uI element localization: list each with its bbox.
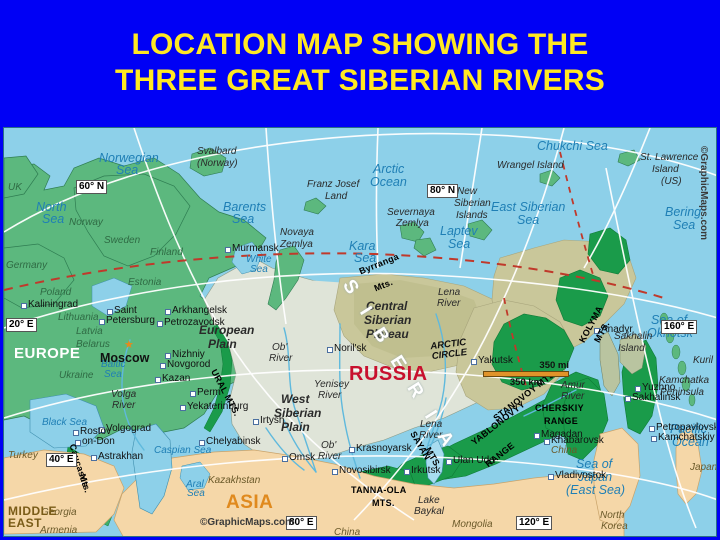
city-marker-icon [190,391,196,397]
coordinate-label-1: 80° N [427,184,458,198]
city-marker-icon [253,419,259,425]
city-marker-icon [73,430,79,436]
city-marker-icon [160,363,166,369]
city-marker-icon [635,386,641,392]
coordinate-label-6: 160° E [661,320,697,334]
city-marker-icon [625,396,631,402]
city-marker-icon [91,455,97,461]
city-marker-icon [21,303,27,309]
scale-km-label: 350 km [483,377,569,388]
city-marker-icon [282,456,288,462]
city-marker-icon [332,469,338,475]
map-canvas[interactable]: NorwegianSeaNorthSeaBarentsSeaArcticOcea… [3,127,717,537]
city-marker-icon [157,321,163,327]
city-marker-icon [404,469,410,475]
graphicmaps-watermark-1: ©GraphicMaps.com [698,146,709,240]
capital-star-icon: ★ [124,338,134,351]
scale-bar: 350 mi 350 km [483,360,569,388]
city-marker-icon [99,319,105,325]
title-line-2: THREE GREAT SIBERIAN RIVERS [115,63,605,99]
city-marker-icon [180,405,186,411]
city-marker-icon [225,247,231,253]
city-marker-icon [107,309,113,315]
city-marker-icon [349,447,355,453]
city-marker-icon [199,440,205,446]
city-marker-icon [651,436,657,442]
city-marker-icon [155,377,161,383]
graphicmaps-watermark-0: ©GraphicMaps.com [200,517,294,528]
map-geometry [4,128,717,537]
city-marker-icon [327,347,333,353]
title-line-1: LOCATION MAP SHOWING THE [131,27,588,63]
city-marker-icon [534,433,540,439]
coordinate-label-2: 20° E [6,318,37,332]
coordinate-label-0: 60° N [76,180,107,194]
coordinate-label-5: 120° E [516,516,552,530]
city-marker-icon [165,353,171,359]
city-marker-icon [75,440,81,446]
city-marker-icon [544,439,550,445]
city-marker-icon [165,309,171,315]
city-marker-icon [446,459,452,465]
city-marker-icon [471,359,477,365]
city-marker-icon [99,427,105,433]
city-marker-icon [594,328,600,334]
coordinate-label-3: 40° E [46,453,77,467]
map-screenshot: LOCATION MAP SHOWING THE THREE GREAT SIB… [0,0,720,540]
city-marker-icon [649,426,655,432]
title-banner: LOCATION MAP SHOWING THE THREE GREAT SIB… [0,0,720,125]
city-marker-icon [548,474,554,480]
scale-miles-label: 350 mi [483,360,569,371]
